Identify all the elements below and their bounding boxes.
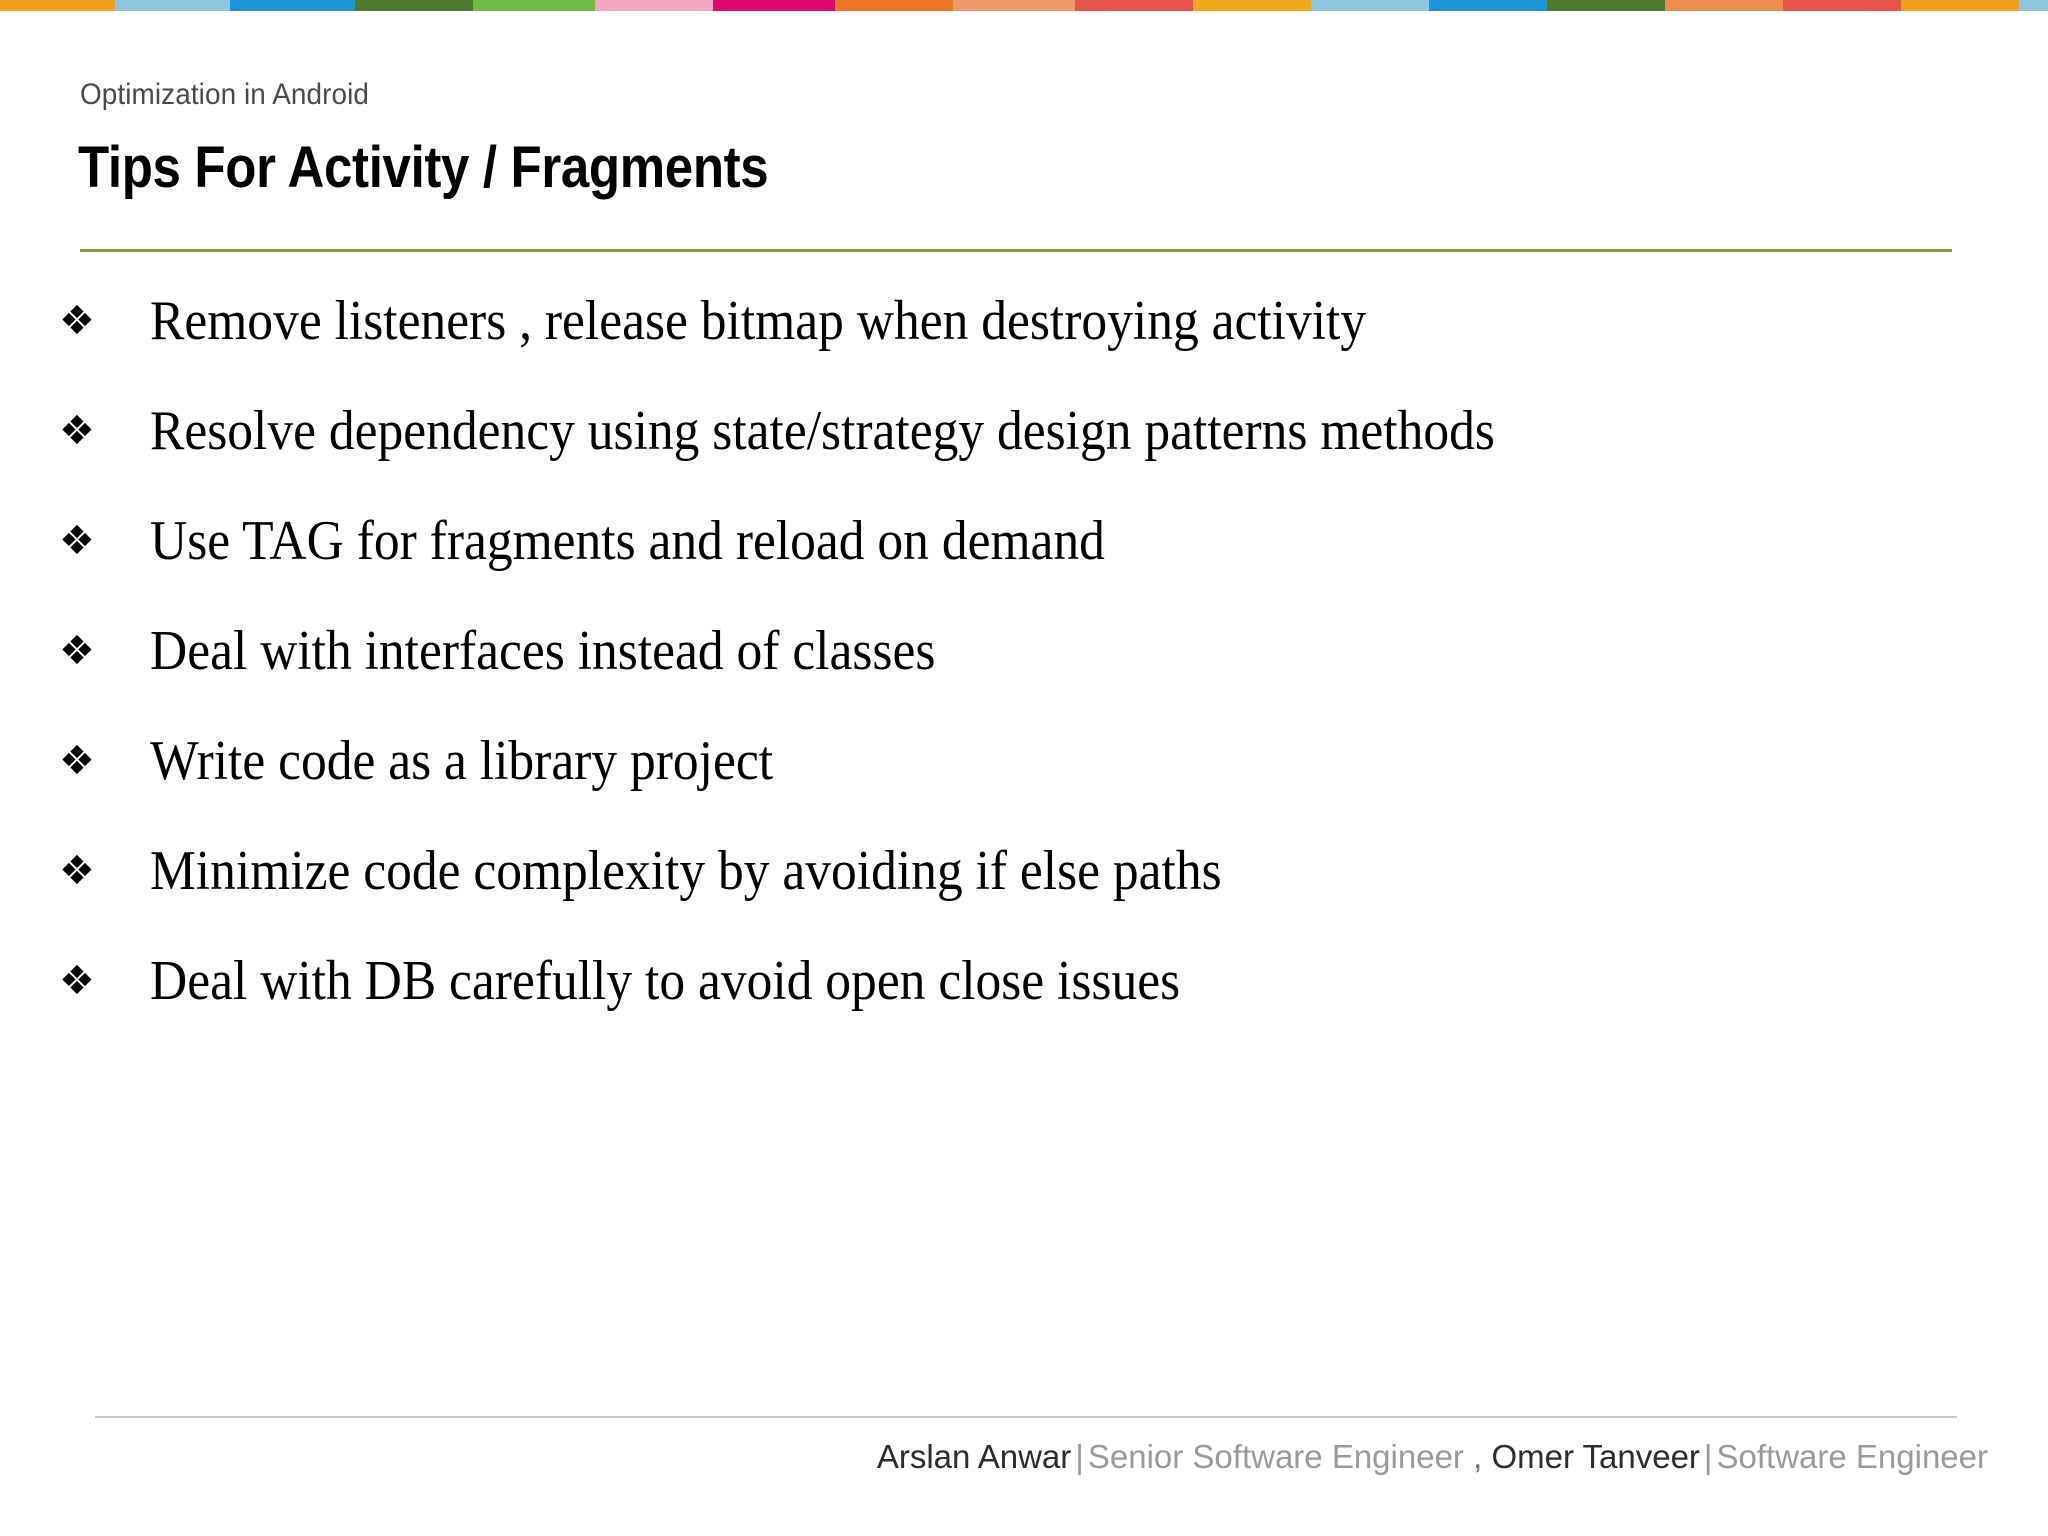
color-strip-segment-14 bbox=[1547, 0, 1665, 11]
list-item: ❖Minimize code complexity by avoiding if… bbox=[55, 835, 1995, 945]
footer-separator: | bbox=[1700, 1438, 1717, 1475]
color-strip-segment-16 bbox=[1783, 0, 1901, 11]
footer-credits: Arslan Anwar|Senior Software Engineer , … bbox=[0, 1437, 1988, 1477]
footer-divider bbox=[95, 1416, 1957, 1418]
footer-separator: | bbox=[1071, 1438, 1088, 1475]
diamond-bullet-icon: ❖ bbox=[55, 945, 150, 1017]
list-item: ❖Deal with DB carefully to avoid open cl… bbox=[55, 945, 1995, 1055]
page-title: Tips For Activity / Fragments bbox=[78, 134, 768, 201]
color-strip-segment-7 bbox=[713, 0, 835, 11]
color-strip-segment-12 bbox=[1311, 0, 1429, 11]
list-item-label: Remove listeners , release bitmap when d… bbox=[150, 285, 1847, 357]
footer-joiner: , bbox=[1464, 1438, 1492, 1475]
list-item: ❖Resolve dependency using state/strategy… bbox=[55, 395, 1995, 505]
color-strip-segment-3 bbox=[230, 0, 355, 11]
list-item-label: Resolve dependency using state/strategy … bbox=[150, 395, 1847, 467]
color-strip-segment-2 bbox=[115, 0, 230, 11]
color-strip-segment-13 bbox=[1429, 0, 1547, 11]
list-item-label: Minimize code complexity by avoiding if … bbox=[150, 835, 1847, 907]
list-item: ❖Remove listeners , release bitmap when … bbox=[55, 285, 1995, 395]
diamond-bullet-icon: ❖ bbox=[55, 615, 150, 687]
slide-eyebrow-label: Optimization in Android bbox=[80, 78, 369, 112]
color-strip-segment-4 bbox=[355, 0, 473, 11]
list-item: ❖Use TAG for fragments and reload on dem… bbox=[55, 505, 1995, 615]
decorative-color-strip bbox=[0, 0, 2048, 11]
color-strip-segment-5 bbox=[473, 0, 595, 11]
color-strip-segment-9 bbox=[953, 0, 1075, 11]
presentation-slide: Optimization in Android Tips For Activit… bbox=[0, 0, 2048, 1536]
diamond-bullet-icon: ❖ bbox=[55, 395, 150, 467]
footer-author-role: Software Engineer bbox=[1717, 1438, 1989, 1475]
footer-author-name: Arslan Anwar bbox=[877, 1438, 1071, 1475]
footer-author-name: Omer Tanveer bbox=[1491, 1438, 1699, 1475]
color-strip-segment-15 bbox=[1665, 0, 1783, 11]
diamond-bullet-icon: ❖ bbox=[55, 835, 150, 907]
list-item-label: Deal with interfaces instead of classes bbox=[150, 615, 1847, 687]
color-strip-segment-17 bbox=[1901, 0, 2019, 11]
color-strip-segment-8 bbox=[835, 0, 953, 11]
color-strip-segment-6 bbox=[595, 0, 713, 11]
diamond-bullet-icon: ❖ bbox=[55, 725, 150, 797]
list-item-label: Deal with DB carefully to avoid open clo… bbox=[150, 945, 1847, 1017]
list-item-label: Write code as a library project bbox=[150, 725, 1847, 797]
list-item: ❖Deal with interfaces instead of classes bbox=[55, 615, 1995, 725]
list-item: ❖Write code as a library project bbox=[55, 725, 1995, 835]
diamond-bullet-icon: ❖ bbox=[55, 505, 150, 577]
color-strip-segment-11 bbox=[1193, 0, 1311, 11]
tips-bullet-list: ❖Remove listeners , release bitmap when … bbox=[55, 285, 1995, 1055]
color-strip-segment-1 bbox=[0, 0, 115, 11]
title-divider bbox=[80, 249, 1952, 252]
color-strip-segment-18 bbox=[2019, 0, 2048, 11]
diamond-bullet-icon: ❖ bbox=[55, 285, 150, 357]
color-strip-segment-10 bbox=[1075, 0, 1193, 11]
footer-author-role: Senior Software Engineer bbox=[1088, 1438, 1464, 1475]
list-item-label: Use TAG for fragments and reload on dema… bbox=[150, 505, 1847, 577]
